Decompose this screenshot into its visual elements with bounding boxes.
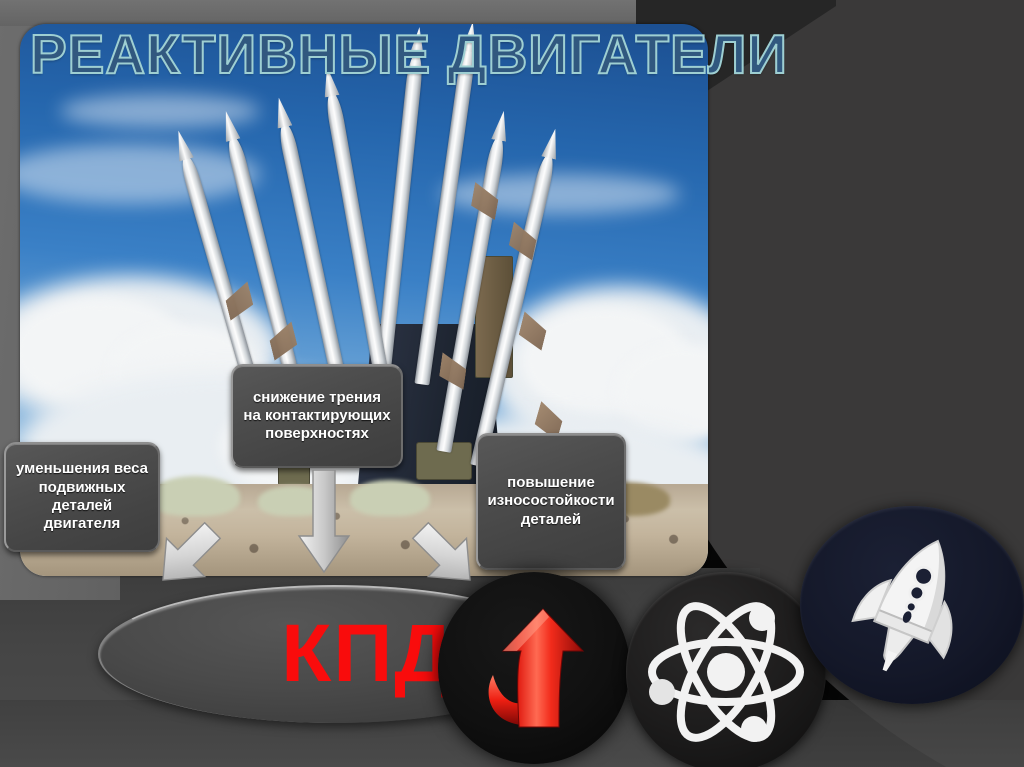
callout-box-wear-resistance[interactable]: повышение износостойкости деталей xyxy=(476,433,626,570)
vegetation xyxy=(350,480,430,516)
callout-box-weight-reduction[interactable]: уменьшения веса подвижных деталей двигат… xyxy=(4,442,160,552)
arrow-down-right-icon xyxy=(152,520,222,592)
slide-canvas: РЕАКТИВНЫЕ ДВИГАТЕЛИ уменьшения веса под… xyxy=(0,0,1024,767)
result-label: КПД xyxy=(281,613,454,695)
callout-box-friction-reduction[interactable]: снижение трения на контактирующих поверх… xyxy=(231,364,403,468)
callout-text: повышение износостойкости деталей xyxy=(487,474,614,529)
callout-text: снижение трения на контактирующих поверх… xyxy=(243,389,391,444)
atom-icon xyxy=(626,572,826,767)
arrow-down-icon xyxy=(297,470,351,574)
red-curved-up-arrow-icon xyxy=(438,572,630,764)
callout-text: уменьшения веса подвижных деталей двигат… xyxy=(16,460,148,533)
rocket-icon xyxy=(800,506,1024,704)
page-title: РЕАКТИВНЫЕ ДВИГАТЕЛИ xyxy=(30,24,730,86)
vegetation xyxy=(150,476,240,516)
